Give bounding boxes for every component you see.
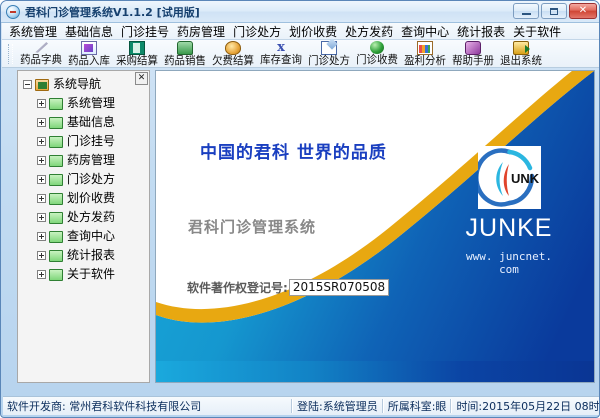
toolbar-button-drug-dictionary[interactable]: 药品字典 <box>17 41 65 67</box>
folder-icon <box>49 269 63 281</box>
bar-chart-icon <box>417 41 433 55</box>
copyright-registration-row: 软件著作权登记号: 2015SR070508 <box>187 279 389 296</box>
menu-item-registration[interactable]: 门诊挂号 <box>117 22 173 41</box>
toolbar-button-outpatient-charge[interactable]: 门诊收费 <box>353 41 401 67</box>
folder-icon <box>49 155 63 167</box>
expander-plus-icon[interactable] <box>37 251 46 260</box>
status-datetime: 时间:2015年05月22日 08时57分31秒 星期五 <box>452 399 600 414</box>
coin-icon <box>225 41 241 55</box>
tree-item-query-center[interactable]: 查询中心 <box>23 227 149 246</box>
tree-item-reports[interactable]: 统计报表 <box>23 246 149 265</box>
window-title: 君科门诊管理系统V1.1.2 [试用版] <box>25 4 200 20</box>
minimize-button[interactable] <box>513 3 539 19</box>
prescription-form-icon <box>321 41 337 55</box>
brand-logo-block: UNK JUNKE www. juncnet. com <box>455 146 563 276</box>
tree-node-label: 关于软件 <box>67 268 115 281</box>
toolbar-button-label: 采购结算 <box>116 55 158 67</box>
tree-item-system-management[interactable]: 系统管理 <box>23 94 149 113</box>
copyright-label: 软件著作权登记号: <box>187 279 288 296</box>
navigation-tree: 系统导航 系统管理 基础信息 门诊挂号 <box>18 71 149 284</box>
minimize-icon <box>522 13 531 15</box>
tree-node-label: 系统导航 <box>53 78 101 91</box>
brand-website: www. juncnet. com <box>455 250 563 276</box>
folder-icon <box>49 193 63 205</box>
toolbar-button-label: 帮助手册 <box>452 55 494 67</box>
brand-name: JUNKE <box>455 214 563 243</box>
folder-icon <box>49 98 63 110</box>
menu-item-pricing-charge[interactable]: 划价收费 <box>285 22 341 41</box>
expander-minus-icon[interactable] <box>23 80 32 89</box>
tree-item-dispensing[interactable]: 处方发药 <box>23 208 149 227</box>
menu-item-reports[interactable]: 统计报表 <box>453 22 509 41</box>
folder-icon <box>49 231 63 243</box>
tree-item-registration[interactable]: 门诊挂号 <box>23 132 149 151</box>
logo-card: UNK <box>478 146 541 209</box>
toolbar-button-profit-analysis[interactable]: 盈利分析 <box>401 41 449 67</box>
maximize-icon <box>550 8 558 15</box>
application-window: 君科门诊管理系统V1.1.2 [试用版] ✕ 系统管理 基础信息 门诊挂号 药房… <box>0 0 600 418</box>
client-area: ✕ 系统导航 系统管理 基础信息 <box>4 70 598 385</box>
toolbar-button-label: 盈利分析 <box>404 55 446 67</box>
tree-node-label: 统计报表 <box>67 249 115 262</box>
expander-plus-icon[interactable] <box>37 213 46 222</box>
toolbar-grip[interactable] <box>8 44 13 64</box>
tree-item-about[interactable]: 关于软件 <box>23 265 149 284</box>
toolbar-button-drug-sales[interactable]: 药品销售 <box>161 41 209 67</box>
menu-item-basic-info[interactable]: 基础信息 <box>61 22 117 41</box>
navigation-close-button[interactable]: ✕ <box>135 72 148 85</box>
tree-item-prescription[interactable]: 门诊处方 <box>23 170 149 189</box>
tree-node-label: 门诊处方 <box>67 173 115 186</box>
toolbar-button-exit-system[interactable]: 退出系统 <box>497 41 545 67</box>
folder-icon <box>49 250 63 262</box>
toolbar-button-label: 药品字典 <box>20 54 62 66</box>
svg-text:UNK: UNK <box>511 171 540 186</box>
splash-system-name: 君科门诊管理系统 <box>188 216 316 237</box>
expander-plus-icon[interactable] <box>37 118 46 127</box>
menu-item-prescription[interactable]: 门诊处方 <box>229 22 285 41</box>
document-import-icon <box>81 41 97 55</box>
tree-node-label: 系统管理 <box>67 97 115 110</box>
toolbar-button-label: 门诊处方 <box>308 55 350 67</box>
status-login-user: 登陆:系统管理员 <box>293 399 382 414</box>
menu-item-dispensing[interactable]: 处方发药 <box>341 22 397 41</box>
tree-node-label: 划价收费 <box>67 192 115 205</box>
window-controls: ✕ <box>513 3 597 19</box>
menu-item-pharmacy[interactable]: 药房管理 <box>173 22 229 41</box>
help-book-icon <box>465 41 481 55</box>
junke-logo-icon: UNK <box>478 146 541 209</box>
folder-icon <box>49 136 63 148</box>
tree-node-label: 门诊挂号 <box>67 135 115 148</box>
toolbar-button-outpatient-prescription[interactable]: 门诊处方 <box>305 41 353 67</box>
menu-item-about[interactable]: 关于软件 <box>509 22 565 41</box>
copyright-number: 2015SR070508 <box>289 279 389 296</box>
splash-panel: 中国的君科 世界的品质 君科门诊管理系统 软件著作权登记号: 2015SR070… <box>155 70 595 383</box>
navigation-panel: ✕ 系统导航 系统管理 基础信息 <box>17 70 150 383</box>
folder-icon <box>49 174 63 186</box>
expander-plus-icon[interactable] <box>37 137 46 146</box>
toolbar-button-arrears-settlement[interactable]: 欠费结算 <box>209 41 257 67</box>
expander-plus-icon[interactable] <box>37 270 46 279</box>
toolbar-button-label: 退出系统 <box>500 55 542 67</box>
toolbar-button-stock-query[interactable]: x 库存查询 <box>257 41 305 67</box>
exit-door-icon <box>513 41 529 55</box>
tree-root-node[interactable]: 系统导航 <box>23 75 149 94</box>
toolbar-button-help-manual[interactable]: 帮助手册 <box>449 41 497 67</box>
tree-item-pharmacy[interactable]: 药房管理 <box>23 151 149 170</box>
folder-icon <box>49 212 63 224</box>
close-icon: ✕ <box>579 6 587 16</box>
tree-node-label: 药房管理 <box>67 154 115 167</box>
toolbar-button-label: 库存查询 <box>260 54 302 66</box>
expander-plus-icon[interactable] <box>37 156 46 165</box>
menu-item-query-center[interactable]: 查询中心 <box>397 22 453 41</box>
menu-item-system[interactable]: 系统管理 <box>5 22 61 41</box>
app-icon <box>6 5 20 19</box>
menu-bar: 系统管理 基础信息 门诊挂号 药房管理 门诊处方 划价收费 处方发药 查询中心 … <box>2 23 600 40</box>
close-button[interactable]: ✕ <box>569 3 597 19</box>
toolbar-button-label: 欠费结算 <box>212 55 254 67</box>
folder-icon <box>49 117 63 129</box>
tree-node-label: 基础信息 <box>67 116 115 129</box>
splash-canvas: 中国的君科 世界的品质 君科门诊管理系统 软件著作权登记号: 2015SR070… <box>156 71 594 382</box>
maximize-button[interactable] <box>541 3 567 19</box>
tree-node-label: 处方发药 <box>67 211 115 224</box>
bottle-icon <box>177 41 193 55</box>
root-folder-icon <box>35 79 49 91</box>
expander-plus-icon[interactable] <box>37 175 46 184</box>
tree-node-label: 查询中心 <box>67 230 115 243</box>
status-department: 所属科室:眼 <box>384 399 451 414</box>
status-bar: 软件开发商: 常州君科软件科技有限公司 登陆:系统管理员 所属科室:眼 时间:2… <box>3 396 599 415</box>
expander-plus-icon[interactable] <box>37 99 46 108</box>
tree-item-basic-info[interactable]: 基础信息 <box>23 113 149 132</box>
toolbar-button-drug-inbound[interactable]: 药品入库 <box>65 41 113 67</box>
toolbar-button-label: 药品销售 <box>164 55 206 67</box>
expander-plus-icon[interactable] <box>37 232 46 241</box>
status-developer: 软件开发商: 常州君科软件科技有限公司 <box>3 399 291 414</box>
tool-bar: 药品字典 药品入库 采购结算 药品销售 欠费结算 x 库存查询 门诊处方 门诊收 <box>2 40 600 68</box>
expander-plus-icon[interactable] <box>37 194 46 203</box>
book-icon <box>129 41 145 55</box>
title-bar: 君科门诊管理系统V1.1.2 [试用版] ✕ <box>1 1 600 23</box>
splash-slogan: 中国的君科 世界的品质 <box>200 138 387 163</box>
toolbar-button-label: 门诊收费 <box>356 54 398 66</box>
tree-item-pricing-charge[interactable]: 划价收费 <box>23 189 149 208</box>
toolbar-button-label: 药品入库 <box>68 55 110 67</box>
toolbar-button-purchase-settlement[interactable]: 采购结算 <box>113 41 161 67</box>
